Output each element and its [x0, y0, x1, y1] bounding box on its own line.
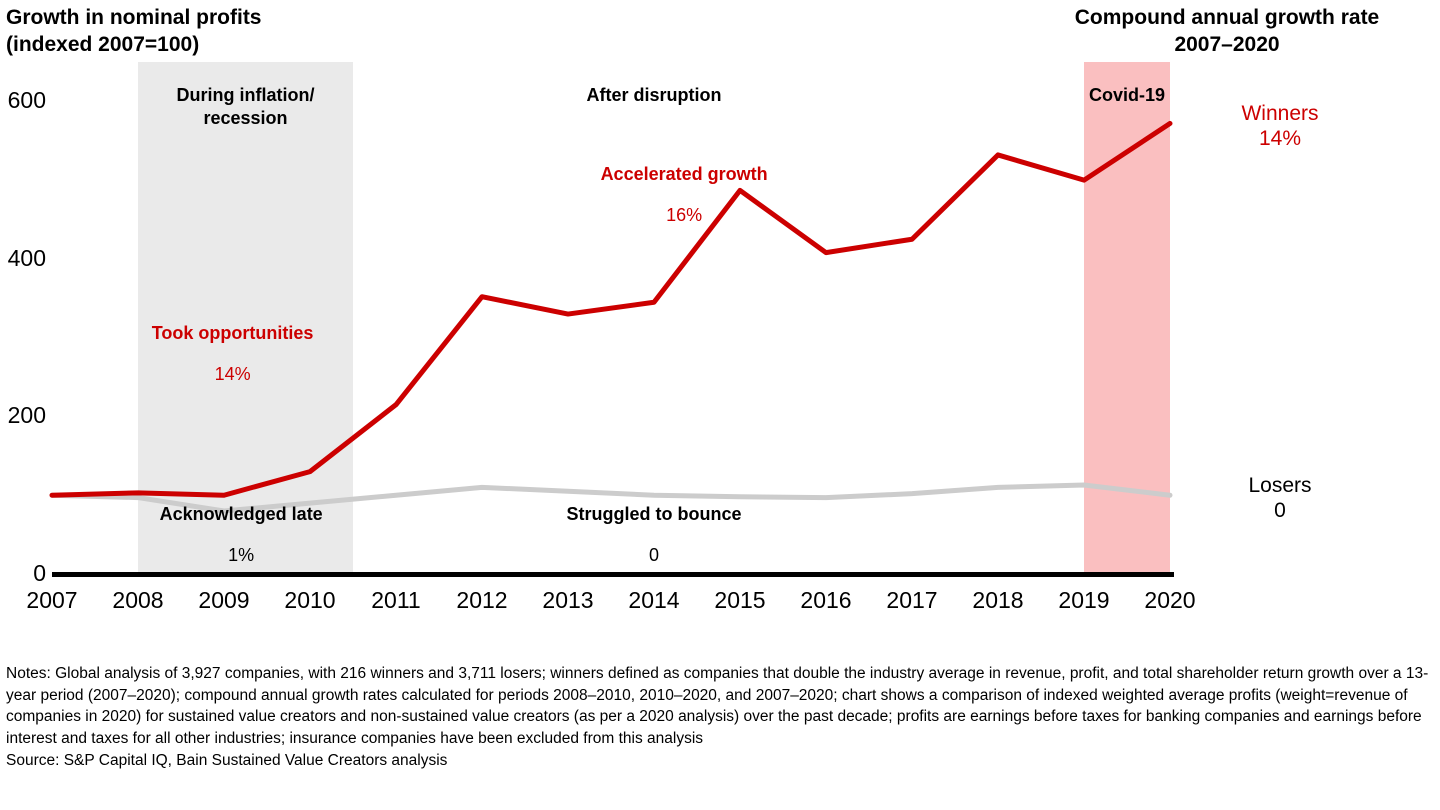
x-tick-label: 2012	[437, 586, 527, 614]
annotation-accelerated-growth: Accelerated growth 16%	[524, 145, 844, 245]
annotation-struggled-to-bounce-head: Struggled to bounce	[474, 503, 834, 526]
annotation-acknowledged-late-value: 1%	[91, 544, 391, 567]
x-tick-label: 2020	[1125, 586, 1215, 614]
x-tick-label: 2014	[609, 586, 699, 614]
annotation-acknowledged-late-head: Acknowledged late	[91, 503, 391, 526]
x-tick-label: 2019	[1039, 586, 1129, 614]
annotation-accelerated-growth-head: Accelerated growth	[524, 163, 844, 186]
annotation-took-opportunities-value: 14%	[83, 363, 383, 386]
footnote-block: Notes: Global analysis of 3,927 companie…	[6, 663, 1434, 772]
chart-title-left: Growth in nominal profits (indexed 2007=…	[6, 4, 566, 58]
x-tick-label: 2018	[953, 586, 1043, 614]
footnote-source: Source: S&P Capital IQ, Bain Sustained V…	[6, 750, 1434, 772]
chart-plot-area: During inflation/ recession After disrup…	[52, 62, 1170, 574]
end-label-losers: Losers 0	[1180, 473, 1380, 523]
annotation-took-opportunities-head: Took opportunities	[83, 322, 383, 345]
annotation-struggled-to-bounce-value: 0	[474, 544, 834, 567]
annotation-acknowledged-late: Acknowledged late 1%	[91, 485, 391, 585]
x-tick-label: 2008	[93, 586, 183, 614]
end-label-winners-value: 14%	[1180, 126, 1380, 151]
annotation-struggled-to-bounce: Struggled to bounce 0	[474, 485, 834, 585]
y-tick-label: 400	[0, 247, 46, 270]
end-label-losers-value: 0	[1180, 498, 1380, 523]
annotation-accelerated-growth-value: 16%	[524, 204, 844, 227]
x-tick-label: 2010	[265, 586, 355, 614]
y-tick-label: 0	[0, 562, 46, 585]
x-axis-line	[52, 572, 1174, 577]
footnote-notes: Notes: Global analysis of 3,927 companie…	[6, 663, 1434, 749]
x-tick-label: 2011	[351, 586, 441, 614]
y-tick-label: 600	[0, 89, 46, 112]
end-label-losers-name: Losers	[1180, 473, 1380, 498]
annotation-took-opportunities: Took opportunities 14%	[83, 304, 383, 404]
chart-title-right: Compound annual growth rate 2007–2020	[1020, 4, 1434, 58]
x-tick-label: 2017	[867, 586, 957, 614]
y-tick-label: 200	[0, 404, 46, 427]
end-label-winners: Winners 14%	[1180, 101, 1380, 151]
end-label-winners-name: Winners	[1180, 101, 1380, 126]
x-tick-label: 2009	[179, 586, 269, 614]
x-tick-label: 2007	[7, 586, 97, 614]
x-tick-label: 2016	[781, 586, 871, 614]
x-tick-label: 2013	[523, 586, 613, 614]
x-tick-label: 2015	[695, 586, 785, 614]
